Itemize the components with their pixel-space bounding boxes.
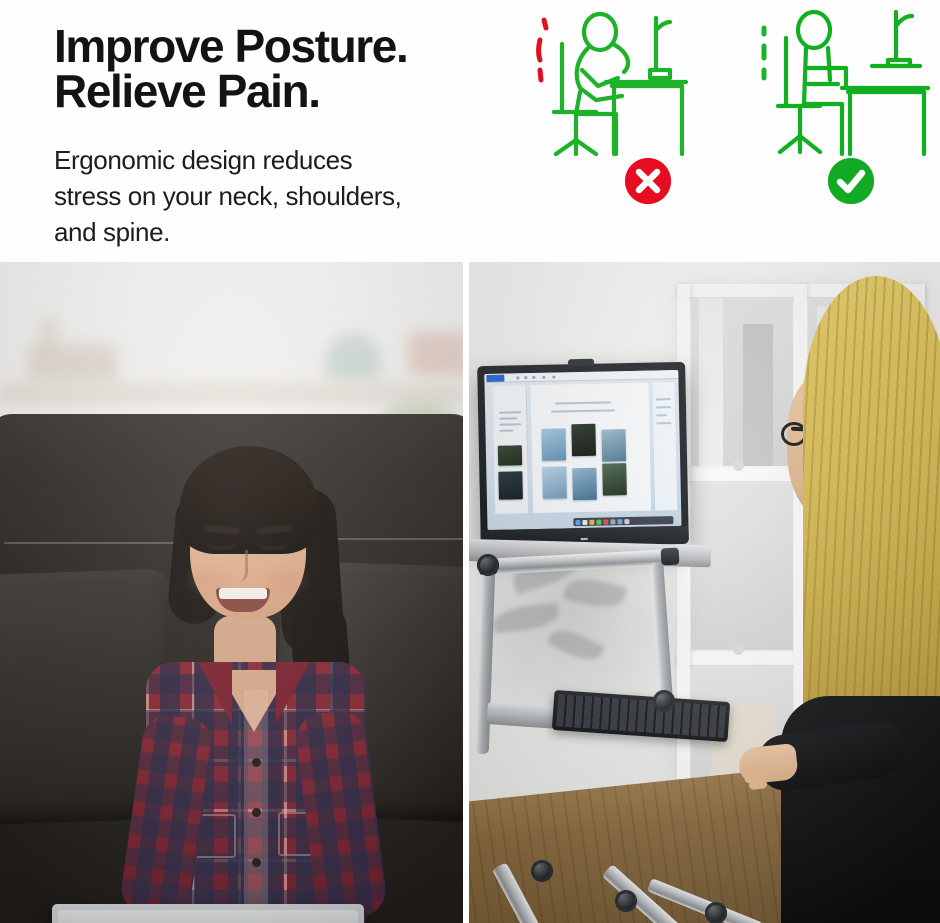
hand-on-keyboard <box>737 743 798 785</box>
keyboard-keys <box>556 694 726 738</box>
marketing-copy: Improve Posture. Relieve Pain. Ergonomic… <box>54 24 474 250</box>
finger <box>749 779 768 790</box>
office-scene: ▬ <box>469 262 940 923</box>
toolbar-icon <box>516 376 519 379</box>
subheading-line-2: stress on your neck, shoulders, <box>54 178 474 214</box>
spine-strain-marks <box>539 20 547 80</box>
correct-posture-illustration <box>750 8 940 218</box>
background-picture-frame <box>408 332 463 376</box>
lifestyle-photo-row: ▬ <box>0 262 940 923</box>
toolbar-icon <box>542 376 545 379</box>
incorrect-posture-illustration <box>510 8 720 218</box>
check-mark-icon <box>828 158 874 204</box>
pivot-knob <box>615 890 637 912</box>
collar-left <box>198 662 232 724</box>
headline-line-2: Relieve Pain. <box>54 69 474 114</box>
standing-user <box>747 276 940 923</box>
laptop-sheen <box>58 910 358 923</box>
subheading: Ergonomic design reduces stress on your … <box>54 142 474 250</box>
shelf-hole <box>733 644 744 655</box>
app-properties-panel <box>652 382 677 510</box>
pivot-knob <box>531 860 553 882</box>
status-badge-correct <box>828 158 874 204</box>
cheek-right <box>268 570 302 590</box>
pivot-knob <box>477 554 499 576</box>
gallery-thumbnail <box>541 428 566 460</box>
app-canvas <box>531 383 652 513</box>
hunched-figure-icon <box>510 8 720 168</box>
laptop-screen <box>484 370 681 530</box>
hair-top <box>180 446 318 554</box>
shelf-hole <box>733 460 744 471</box>
page-title: Improve Posture. Relieve Pain. <box>54 24 474 114</box>
seated-user <box>128 430 380 923</box>
subheading-line-3: and spine. <box>54 214 474 250</box>
pivot-knob <box>705 902 727 923</box>
app-tab-active <box>486 375 504 382</box>
app-toolbar <box>484 370 678 383</box>
background-vase <box>325 334 381 384</box>
webcam <box>568 359 594 367</box>
cheek-left <box>192 570 226 590</box>
toolbar-icon <box>552 376 555 379</box>
x-mark-icon <box>625 158 671 204</box>
gallery-thumbnail <box>571 424 596 456</box>
status-badge-incorrect <box>625 158 671 204</box>
eye-right <box>258 542 288 550</box>
background-shelf <box>0 380 463 404</box>
nose <box>234 550 248 582</box>
product-feature-image: Improve Posture. Relieve Pain. Ergonomic… <box>0 0 940 923</box>
subheading-line-1: Ergonomic design reduces <box>54 142 474 178</box>
taskbar-dock[interactable] <box>573 516 673 526</box>
app-sidebar <box>493 385 530 514</box>
blonde-hair <box>803 276 940 746</box>
laptop-seated <box>52 904 364 923</box>
gallery-thumbnail <box>572 468 597 500</box>
laptop-standing: ▬ <box>477 362 689 548</box>
shirt-button <box>252 808 261 817</box>
upright-figure-icon <box>750 8 940 168</box>
photo-seated-use <box>0 262 463 923</box>
living-room-scene <box>0 262 463 923</box>
sidebar-thumbnail <box>498 445 522 465</box>
gallery-thumbnail <box>542 466 567 498</box>
gallery-thumbnail <box>602 463 627 495</box>
hair-strands <box>803 276 940 746</box>
eye-left <box>206 542 236 550</box>
teeth <box>219 588 267 599</box>
toolbar-icon <box>524 376 527 379</box>
posture-comparison-diagram <box>500 8 940 218</box>
tube-end-cap-right <box>661 548 680 566</box>
toolbar-icon <box>532 376 535 379</box>
binder <box>699 298 723 466</box>
shirt-button <box>252 758 261 767</box>
pivot-knob <box>653 690 675 712</box>
shirt-button <box>252 858 261 867</box>
header-band: Improve Posture. Relieve Pain. Ergonomic… <box>0 0 940 262</box>
shirt-placket <box>244 690 268 923</box>
sidebar-thumbnail <box>498 471 523 499</box>
gallery-thumbnail <box>601 429 626 461</box>
photo-standing-use: ▬ <box>469 262 940 923</box>
